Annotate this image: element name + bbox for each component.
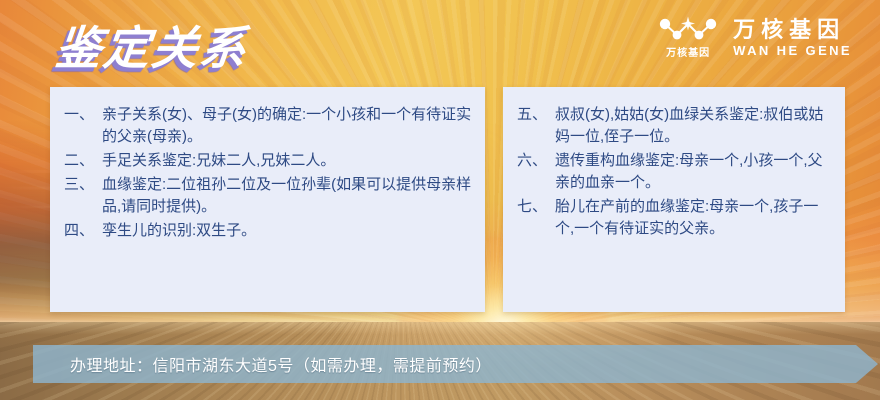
- brand-wordmark: 万核基因 WAN HE GENE: [733, 19, 852, 57]
- dna-molecule-icon: [657, 16, 719, 47]
- list-item-text: 遗传重构血缘鉴定:母亲一个,小孩一个,父亲的血亲一个。: [555, 150, 835, 194]
- list-item-text: 血缘鉴定:二位祖孙二位及一位孙辈(如果可以提供母亲样品,请同时提供)。: [102, 174, 475, 218]
- relationship-list-panel-left: 一、 亲子关系(女)、母子(女)的确定:一个小孩和一个有待证实的父亲(母亲)。 …: [50, 87, 485, 312]
- brand-mark: 万核基因: [657, 16, 719, 59]
- list-item: 二、 手足关系鉴定:兄妹二人,兄妹二人。: [64, 150, 475, 172]
- list-item-number: 二、: [64, 150, 102, 172]
- list-item: 七、 胎儿在产前的血缘鉴定:母亲一个,孩子一个,一个有待证实的父亲。: [517, 196, 835, 240]
- list-item-text: 叔叔(女),姑姑(女)血绿关系鉴定:叔伯或姑妈一位,侄子一位。: [555, 104, 835, 148]
- list-item-number: 七、: [517, 196, 555, 218]
- brand-name-cn: 万核基因: [733, 19, 852, 41]
- list-item: 四、 孪生儿的识别:双生子。: [64, 220, 475, 242]
- list-item: 一、 亲子关系(女)、母子(女)的确定:一个小孩和一个有待证实的父亲(母亲)。: [64, 104, 475, 148]
- brand-mark-caption: 万核基因: [666, 49, 710, 59]
- page-title: 鉴定关系: [53, 12, 252, 78]
- brand-name-en: WAN HE GENE: [733, 44, 852, 57]
- address-banner: 办理地址：信阳市湖东大道5号（如需办理，需提前预约）: [33, 345, 878, 383]
- list-item-number: 三、: [64, 174, 102, 196]
- brand-lockup: 万核基因 万核基因 WAN HE GENE: [657, 16, 852, 59]
- list-item-number: 四、: [64, 220, 102, 242]
- list-item: 三、 血缘鉴定:二位祖孙二位及一位孙辈(如果可以提供母亲样品,请同时提供)。: [64, 174, 475, 218]
- list-item-number: 六、: [517, 150, 555, 172]
- list-item-text: 亲子关系(女)、母子(女)的确定:一个小孩和一个有待证实的父亲(母亲)。: [102, 104, 475, 148]
- list-item: 五、 叔叔(女),姑姑(女)血绿关系鉴定:叔伯或姑妈一位,侄子一位。: [517, 104, 835, 148]
- poster-canvas: 鉴定关系: [0, 0, 880, 400]
- list-item-number: 五、: [517, 104, 555, 126]
- list-item-text: 胎儿在产前的血缘鉴定:母亲一个,孩子一个,一个有待证实的父亲。: [555, 196, 835, 240]
- address-banner-text: 办理地址：信阳市湖东大道5号（如需办理，需提前预约）: [70, 352, 492, 376]
- relationship-list-panel-right: 五、 叔叔(女),姑姑(女)血绿关系鉴定:叔伯或姑妈一位,侄子一位。 六、 遗传…: [503, 87, 845, 312]
- list-item-number: 一、: [64, 104, 102, 126]
- list-item-text: 孪生儿的识别:双生子。: [102, 220, 475, 242]
- list-item: 六、 遗传重构血缘鉴定:母亲一个,小孩一个,父亲的血亲一个。: [517, 150, 835, 194]
- list-item-text: 手足关系鉴定:兄妹二人,兄妹二人。: [102, 150, 475, 172]
